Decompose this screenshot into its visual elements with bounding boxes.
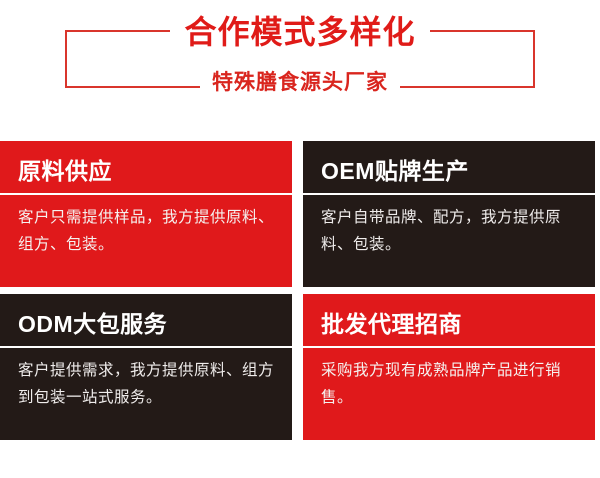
card-title: 批发代理招商 (303, 294, 595, 338)
page-title: 合作模式多样化 (0, 14, 600, 50)
header-section: 合作模式多样化 特殊膳食源头厂家 (0, 0, 600, 132)
service-card-grid: 原料供应 客户只需提供样品，我方提供原料、组方、包装。 OEM贴牌生产 客户自带… (0, 141, 595, 441)
card-description: 客户只需提供样品，我方提供原料、组方、包装。 (0, 195, 292, 258)
card-description: 客户提供需求，我方提供原料、组方到包装一站式服务。 (0, 348, 292, 411)
service-card-wholesale-agency[interactable]: 批发代理招商 采购我方现有成熟品牌产品进行销售。 (303, 294, 595, 440)
page-subtitle-text: 特殊膳食源头厂家 (200, 70, 400, 96)
card-title: OEM贴牌生产 (303, 141, 595, 185)
page-title-text: 合作模式多样化 (170, 14, 429, 50)
service-card-odm-full-service[interactable]: ODM大包服务 客户提供需求，我方提供原料、组方到包装一站式服务。 (0, 294, 292, 440)
card-description: 客户自带品牌、配方，我方提供原料、包装。 (303, 195, 595, 258)
service-card-oem-production[interactable]: OEM贴牌生产 客户自带品牌、配方，我方提供原料、包装。 (303, 141, 595, 287)
card-title: 原料供应 (0, 141, 292, 185)
card-title: ODM大包服务 (0, 294, 292, 338)
page-subtitle: 特殊膳食源头厂家 (0, 70, 600, 96)
service-card-raw-material-supply[interactable]: 原料供应 客户只需提供样品，我方提供原料、组方、包装。 (0, 141, 292, 287)
card-description: 采购我方现有成熟品牌产品进行销售。 (303, 348, 595, 411)
promo-banner: 合作模式多样化 特殊膳食源头厂家 原料供应 客户只需提供样品，我方提供原料、组方… (0, 0, 600, 478)
